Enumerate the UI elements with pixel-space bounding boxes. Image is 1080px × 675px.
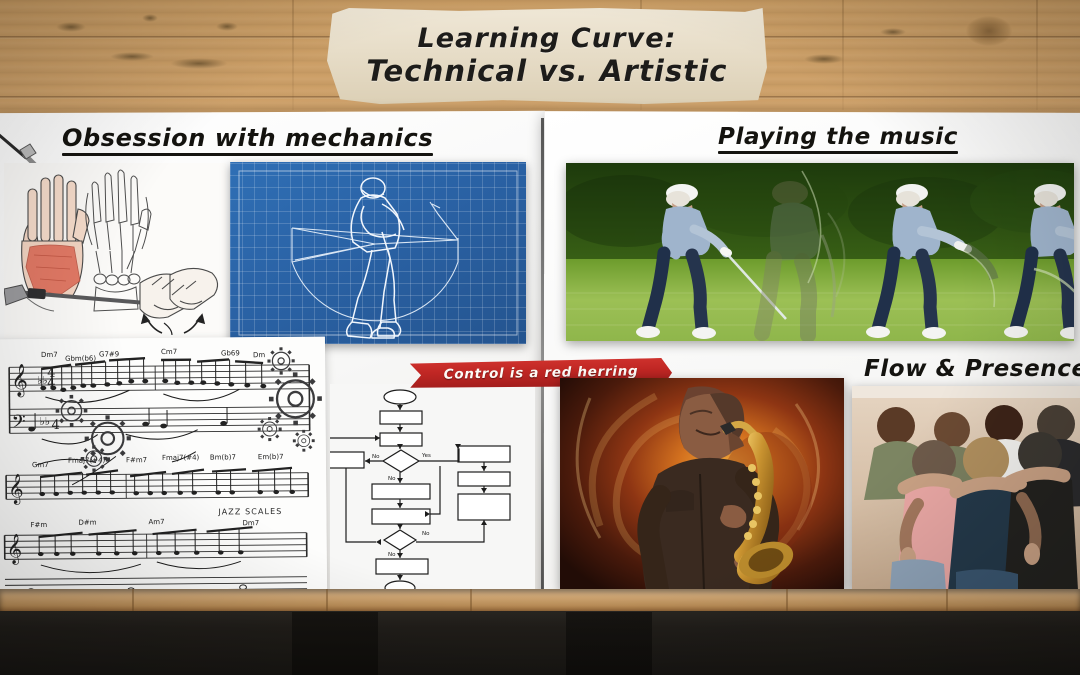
poster-canvas: Learning Curve: Technical vs. Artistic O… — [0, 0, 1080, 675]
page-title-line2: Technical vs. Artistic — [366, 57, 727, 87]
jazz-scales-label: JAZZ SCALES — [217, 507, 282, 517]
hand-anatomy-sketch — [4, 163, 226, 338]
flow-presence-heading: Flow & Presence — [864, 356, 1080, 382]
svg-text:Fmaj7(#4): Fmaj7(#4) — [162, 454, 200, 462]
left-heading-text: Obsession with mechanics — [62, 124, 433, 152]
flow-label-yes: Yes — [421, 453, 431, 459]
sheet-music: 𝄞 𝄢 ♭♭ 4 4 ♭♭ 4 Dm7Gbm(b6)G7#9 Cm7Gb69Dm — [0, 337, 327, 598]
svg-text:Gbm(b6): Gbm(b6) — [65, 355, 96, 363]
svg-text:F#m7: F#m7 — [126, 456, 147, 464]
heading-underline — [62, 153, 433, 156]
flow-label-no: No — [388, 552, 396, 558]
left-panel-heading: Obsession with mechanics — [62, 124, 433, 156]
svg-text:D#m: D#m — [78, 519, 96, 527]
poster-title-tape: Learning Curve: Technical vs. Artistic — [327, 8, 767, 104]
group-embrace-photo — [852, 386, 1080, 591]
svg-text:Gb69: Gb69 — [221, 349, 240, 357]
heading-underline — [718, 151, 958, 154]
golf-swing-motion-photo — [566, 163, 1074, 341]
flow-presence-text: Flow & Presence — [864, 356, 1080, 382]
svg-text:♭♭: ♭♭ — [40, 415, 51, 428]
svg-text:4: 4 — [52, 418, 60, 433]
flow-label-no: No — [388, 476, 396, 482]
flow-label-no: No — [372, 454, 380, 460]
table-leg — [566, 612, 652, 675]
table-leg — [292, 612, 378, 675]
right-heading-text: Playing the music — [718, 124, 958, 150]
svg-text:♭♭: ♭♭ — [37, 374, 48, 387]
svg-text:Dm7: Dm7 — [242, 519, 259, 527]
flowchart-diagram: Yes No No No No — [330, 384, 535, 598]
table-edge — [0, 589, 1080, 611]
board-seam-divider — [541, 118, 544, 600]
table-shadow — [0, 608, 1080, 675]
svg-text:Dm: Dm — [253, 351, 265, 359]
svg-text:𝄞: 𝄞 — [8, 473, 24, 505]
svg-text:Bm(b)7: Bm(b)7 — [210, 453, 236, 461]
svg-text:Em(b)7: Em(b)7 — [258, 453, 284, 461]
svg-text:G7#9: G7#9 — [99, 350, 119, 358]
blueprint-golf-swing — [230, 162, 526, 344]
svg-text:Dm7: Dm7 — [41, 351, 58, 359]
svg-text:Cm7: Cm7 — [161, 348, 177, 356]
svg-text:𝄞: 𝄞 — [7, 533, 23, 565]
svg-text:𝄢: 𝄢 — [12, 412, 26, 437]
flow-label-no: No — [422, 531, 430, 537]
svg-text:𝄞: 𝄞 — [11, 363, 28, 397]
page-title-line1: Learning Curve: — [417, 25, 676, 53]
right-panel-heading: Playing the music — [718, 124, 958, 154]
svg-text:Am7: Am7 — [148, 518, 164, 526]
saxophonist-photo — [560, 378, 844, 590]
svg-text:F#m: F#m — [30, 521, 47, 529]
